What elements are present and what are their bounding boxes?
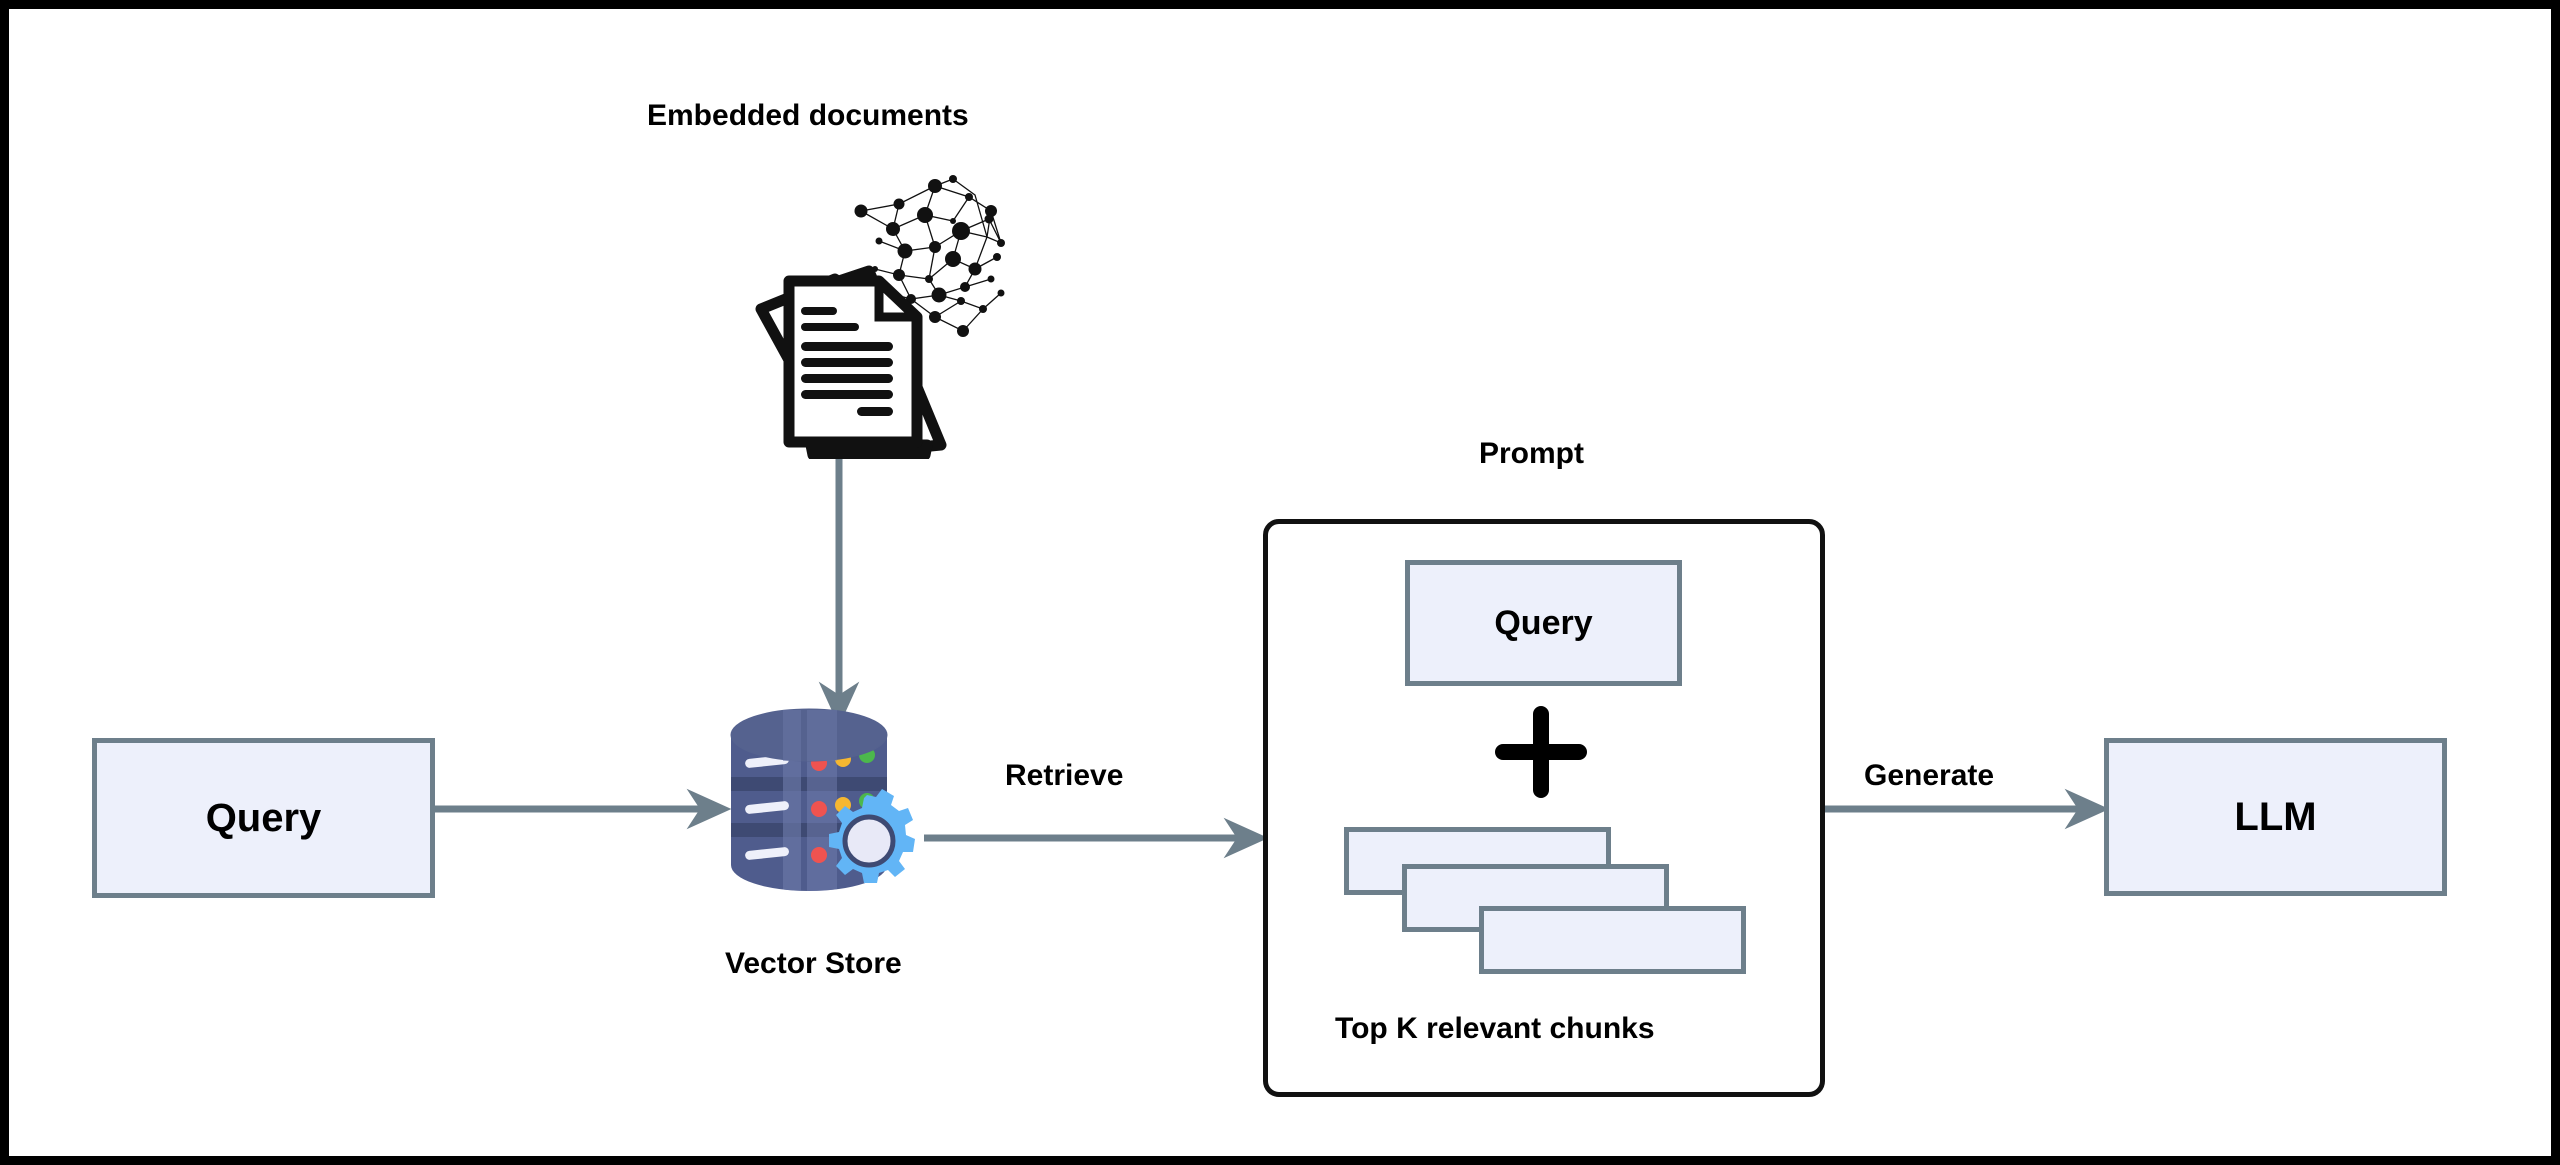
vector-store-caption: Vector Store — [725, 949, 902, 979]
plus-icon — [1495, 706, 1587, 798]
prompt-query-label: Query — [1494, 604, 1592, 643]
edge-label-retrieve: Retrieve — [1005, 761, 1123, 791]
chunk-box-3[interactable] — [1479, 906, 1746, 974]
prompt-query-box[interactable]: Query — [1405, 560, 1682, 686]
embedded-documents-title: Embedded documents — [647, 101, 969, 131]
edge-label-generate: Generate — [1864, 761, 1994, 791]
llm-box-label: LLM — [2234, 795, 2316, 840]
top-k-chunks-caption: Top K relevant chunks — [1335, 1014, 1655, 1044]
query-box-left-label: Query — [206, 796, 322, 841]
vector-store-database-icon — [719, 699, 959, 919]
prompt-title: Prompt — [1479, 439, 1584, 469]
llm-box[interactable]: LLM — [2104, 738, 2447, 896]
documents-network-icon — [739, 159, 1059, 459]
query-box-left[interactable]: Query — [92, 738, 435, 898]
diagram-canvas: Embedded documents — [0, 0, 2560, 1165]
